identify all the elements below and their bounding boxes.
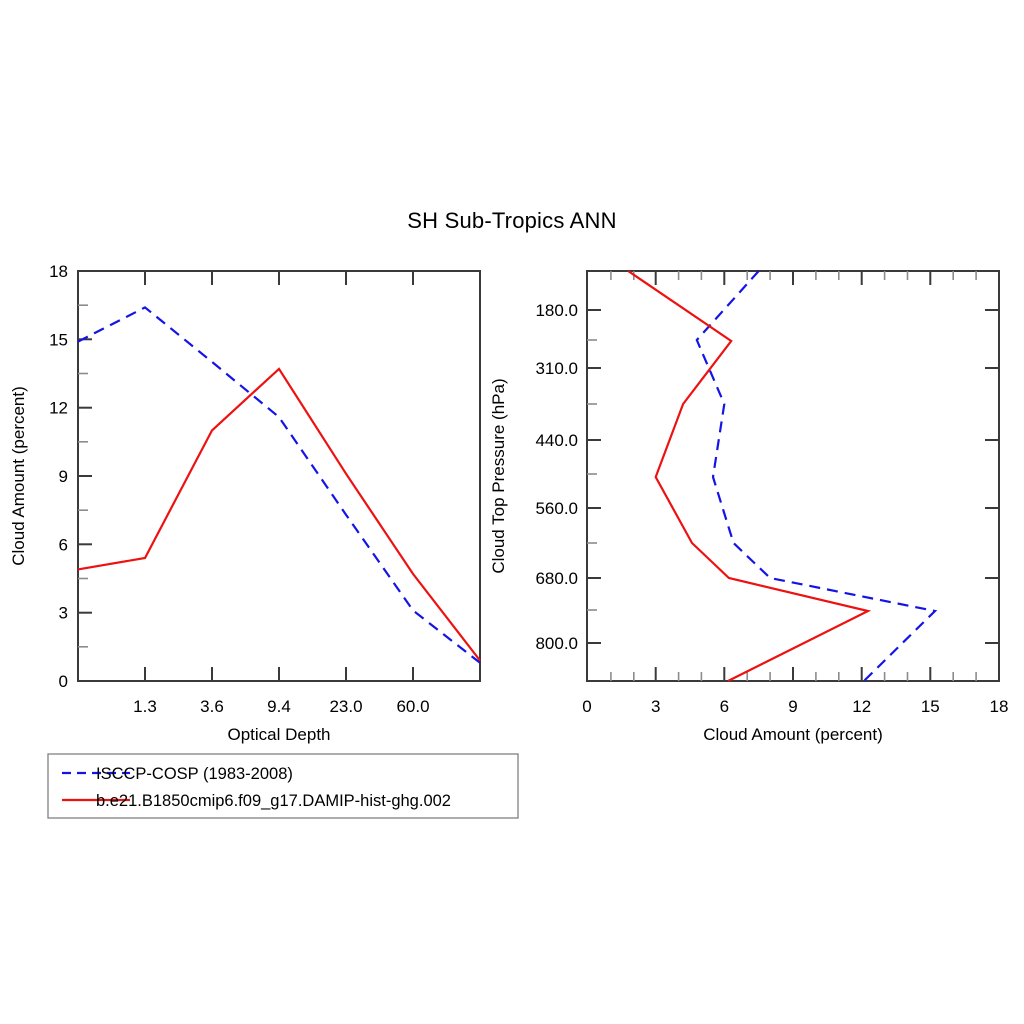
right-panel: 180.0 310.0 440.0 560.0 680.0 800.0 [489, 271, 1008, 744]
left-xtick-5: 60.0 [396, 697, 429, 716]
legend-label-isccp-cosp[interactable]: ISCCP-COSP (1983-2008) [96, 765, 293, 783]
right-ytick-680: 680.0 [535, 569, 578, 588]
left-ytick-18: 18 [49, 262, 68, 281]
left-ytick-6: 6 [59, 535, 68, 554]
chart-svg: 0 3 6 9 12 15 18 1.3 3. [0, 0, 1024, 1024]
right-x-axis-title: Cloud Amount (percent) [703, 725, 883, 744]
right-plot-frame [587, 271, 999, 681]
left-y-axis: 0 3 6 9 12 15 18 [49, 262, 92, 691]
right-series-isccp-cosp [697, 271, 935, 681]
right-ytick-440: 440.0 [535, 431, 578, 450]
legend: ISCCP-COSP (1983-2008) b.e21.B1850cmip6.… [48, 754, 518, 818]
right-xtick-3: 3 [651, 697, 660, 716]
left-ytick-3: 3 [59, 604, 68, 623]
right-ytick-560: 560.0 [535, 499, 578, 518]
left-ytick-15: 15 [49, 330, 68, 349]
left-xtick-3: 9.4 [267, 697, 291, 716]
right-y-axis: 180.0 310.0 440.0 560.0 680.0 800.0 [535, 301, 999, 653]
left-x-axis-title: Optical Depth [228, 725, 331, 744]
page-title: SH Sub-Tropics ANN [0, 208, 1024, 234]
left-xtick-1: 1.3 [133, 697, 157, 716]
right-ytick-310: 310.0 [535, 359, 578, 378]
left-plot-frame [78, 271, 480, 681]
right-x-axis: 0 3 6 9 12 15 18 [582, 271, 1008, 716]
left-y-axis-title: Cloud Amount (percent) [9, 386, 28, 566]
left-xtick-4: 23.0 [329, 697, 362, 716]
left-series-isccp-cosp [78, 307, 480, 662]
right-ytick-800: 800.0 [535, 634, 578, 653]
right-xtick-15: 15 [921, 697, 940, 716]
right-xtick-0: 0 [582, 697, 591, 716]
left-panel: 0 3 6 9 12 15 18 1.3 3. [9, 262, 480, 744]
right-xtick-9: 9 [788, 697, 797, 716]
right-xtick-6: 6 [720, 697, 729, 716]
left-ytick-12: 12 [49, 399, 68, 418]
right-xtick-12: 12 [852, 697, 871, 716]
figure-canvas: SH Sub-Tropics ANN 0 3 [0, 0, 1024, 1024]
right-xtick-18: 18 [990, 697, 1009, 716]
left-ytick-0: 0 [59, 672, 68, 691]
legend-label-model[interactable]: b.e21.B1850cmip6.f09_g17.DAMIP-hist-ghg.… [96, 792, 451, 810]
right-y-axis-title: Cloud Top Pressure (hPa) [489, 378, 508, 573]
left-xtick-2: 3.6 [200, 697, 224, 716]
right-ytick-180: 180.0 [535, 301, 578, 320]
left-ytick-9: 9 [59, 467, 68, 486]
right-series-model [628, 271, 868, 681]
